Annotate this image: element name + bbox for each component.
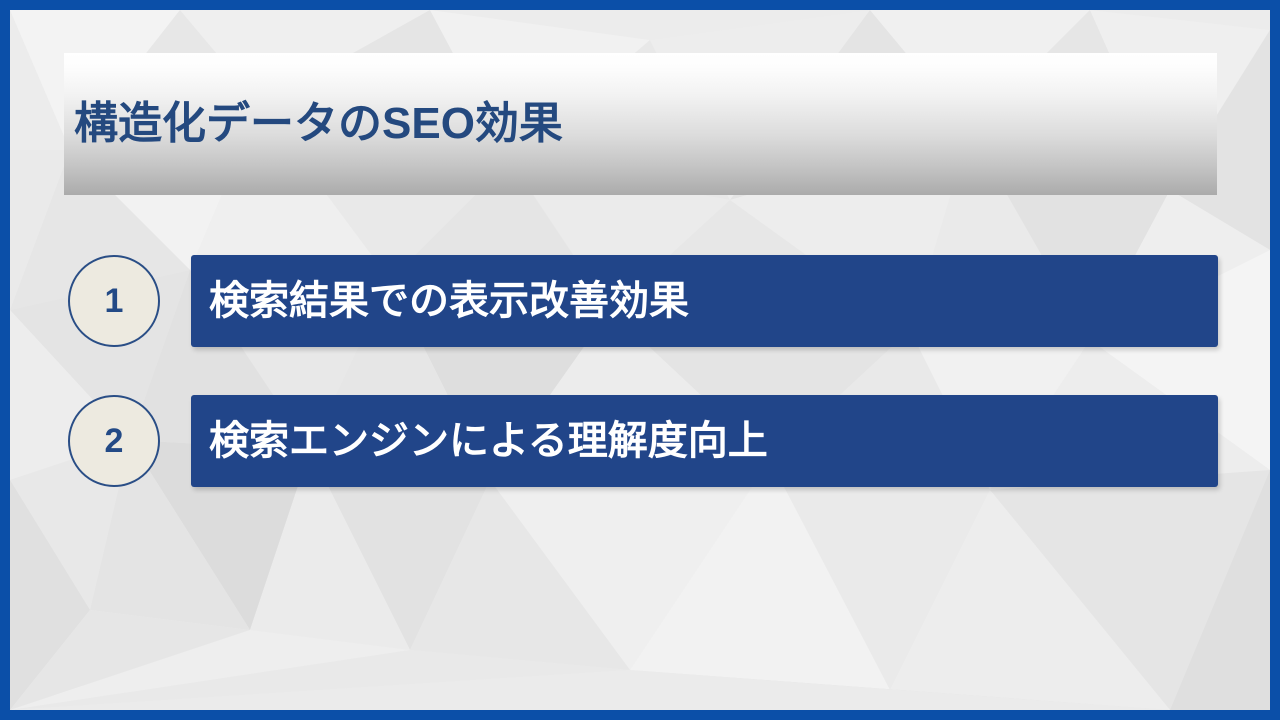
page-title: 構造化データのSEO効果 <box>74 102 563 146</box>
item-bar[interactable]: 検索結果での表示改善効果 <box>191 255 1218 347</box>
slide-root: 構造化データのSEO効果 1 検索結果での表示改善効果 2 検索エンジンによる理… <box>0 0 1280 720</box>
slide-title-bar: 構造化データのSEO効果 <box>64 53 1217 195</box>
list-item[interactable]: 1 検索結果での表示改善効果 <box>10 255 1270 347</box>
item-number-badge: 2 <box>68 395 160 487</box>
item-number-badge: 1 <box>68 255 160 347</box>
item-bar[interactable]: 検索エンジンによる理解度向上 <box>191 395 1218 487</box>
list-item[interactable]: 2 検索エンジンによる理解度向上 <box>10 395 1270 487</box>
item-label: 検索エンジンによる理解度向上 <box>191 421 768 461</box>
slide-canvas: 構造化データのSEO効果 1 検索結果での表示改善効果 2 検索エンジンによる理… <box>10 10 1270 710</box>
item-label: 検索結果での表示改善効果 <box>191 281 689 321</box>
